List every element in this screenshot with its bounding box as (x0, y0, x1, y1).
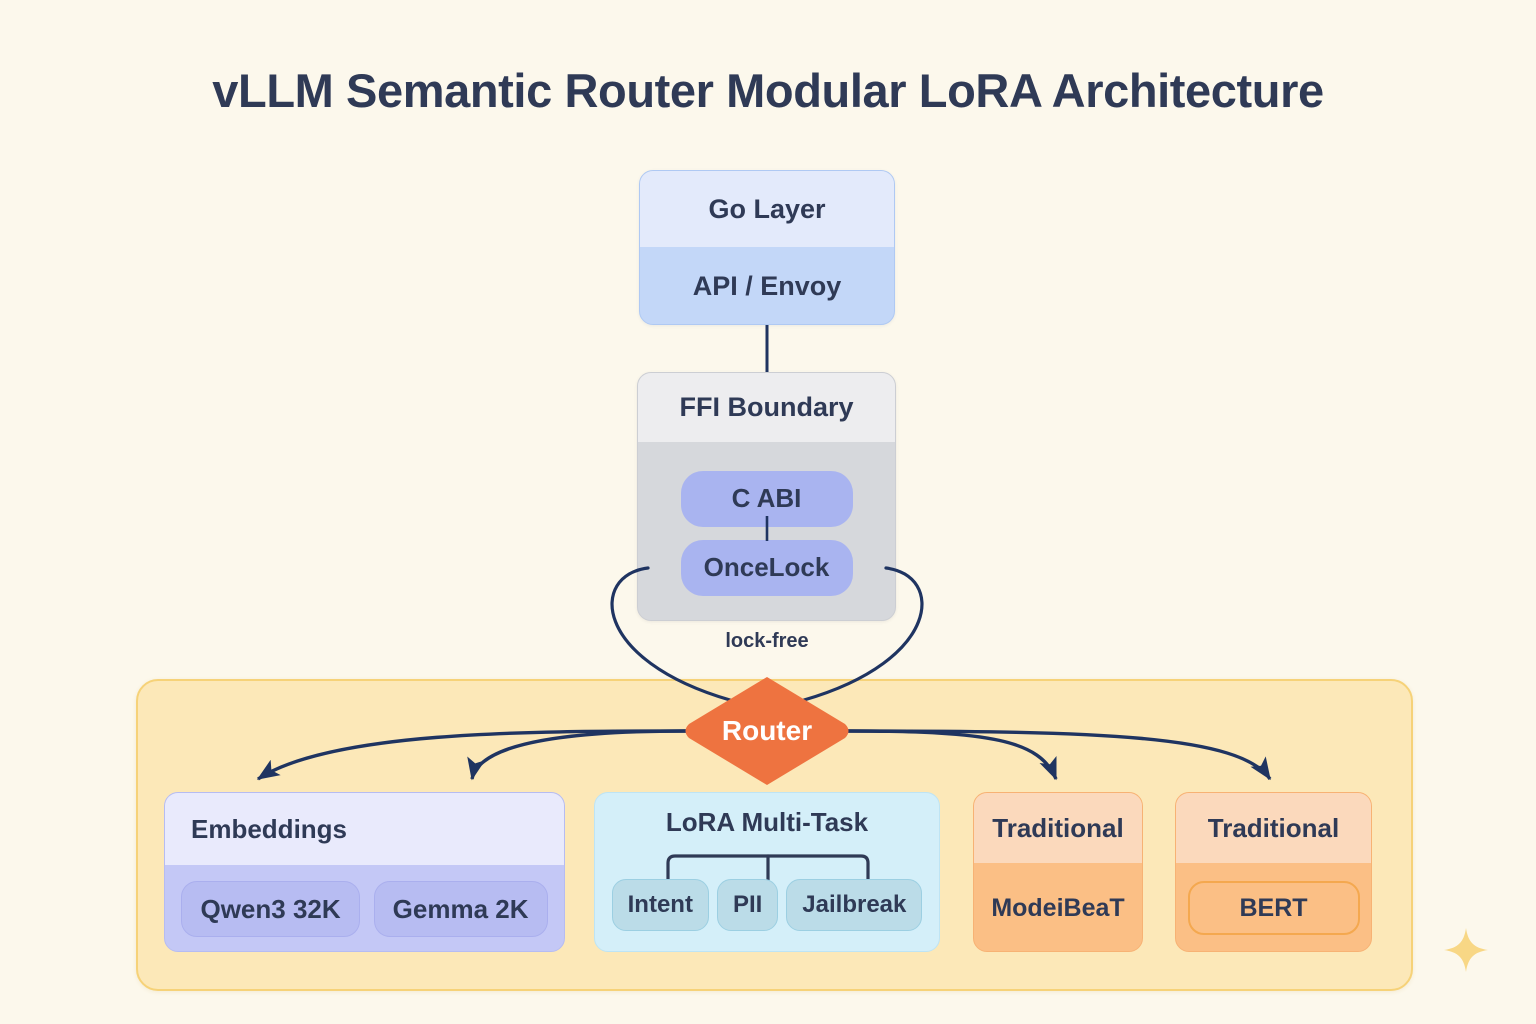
embeddings-header: Embeddings (165, 793, 564, 865)
sparkle-icon (1443, 927, 1489, 973)
traditional-2-header: Traditional (1176, 793, 1371, 863)
lora-item-pii[interactable]: PII (717, 879, 778, 931)
lock-free-edge-label: lock-free (667, 630, 867, 653)
embeddings-box[interactable]: Embeddings Qwen3 32K Gemma 2K (164, 792, 565, 952)
router-node[interactable]: Router (682, 674, 852, 788)
traditional-box-1[interactable]: Traditional ModeiBeaT (973, 792, 1143, 952)
embeddings-body: Qwen3 32K Gemma 2K (165, 865, 564, 952)
lora-multitask-header: LoRA Multi-Task (595, 807, 939, 838)
traditional-1-header: Traditional (974, 793, 1142, 863)
lora-multitask-box[interactable]: LoRA Multi-Task Intent PII Jailbreak (594, 792, 940, 952)
go-layer-header: Go Layer (640, 171, 894, 247)
page-title: vLLM Semantic Router Modular LoRA Archit… (0, 63, 1536, 118)
ffi-boundary-box[interactable]: FFI Boundary C ABI OnceLock (637, 372, 896, 621)
router-label: Router (682, 674, 852, 788)
lora-item-intent[interactable]: Intent (612, 879, 709, 931)
embeddings-item-qwen3[interactable]: Qwen3 32K (181, 881, 359, 937)
go-layer-body: API / Envoy (640, 247, 894, 325)
traditional-box-2[interactable]: Traditional BERT (1175, 792, 1372, 952)
lora-item-jailbreak[interactable]: Jailbreak (786, 879, 922, 931)
ffi-boundary-body: C ABI OnceLock (638, 442, 895, 620)
traditional-2-item-bert[interactable]: BERT (1188, 881, 1360, 935)
lora-multitask-items: Intent PII Jailbreak (595, 879, 939, 931)
go-layer-box[interactable]: Go Layer API / Envoy (639, 170, 895, 325)
traditional-1-body: ModeiBeaT (974, 863, 1142, 952)
ffi-item-oncelock[interactable]: OnceLock (681, 540, 853, 596)
traditional-2-body: BERT (1176, 863, 1371, 952)
diagram-canvas: vLLM Semantic Router Modular LoRA Archit… (0, 0, 1536, 1024)
embeddings-item-gemma[interactable]: Gemma 2K (374, 881, 548, 937)
ffi-boundary-header: FFI Boundary (638, 373, 895, 442)
ffi-item-c-abi[interactable]: C ABI (681, 471, 853, 527)
